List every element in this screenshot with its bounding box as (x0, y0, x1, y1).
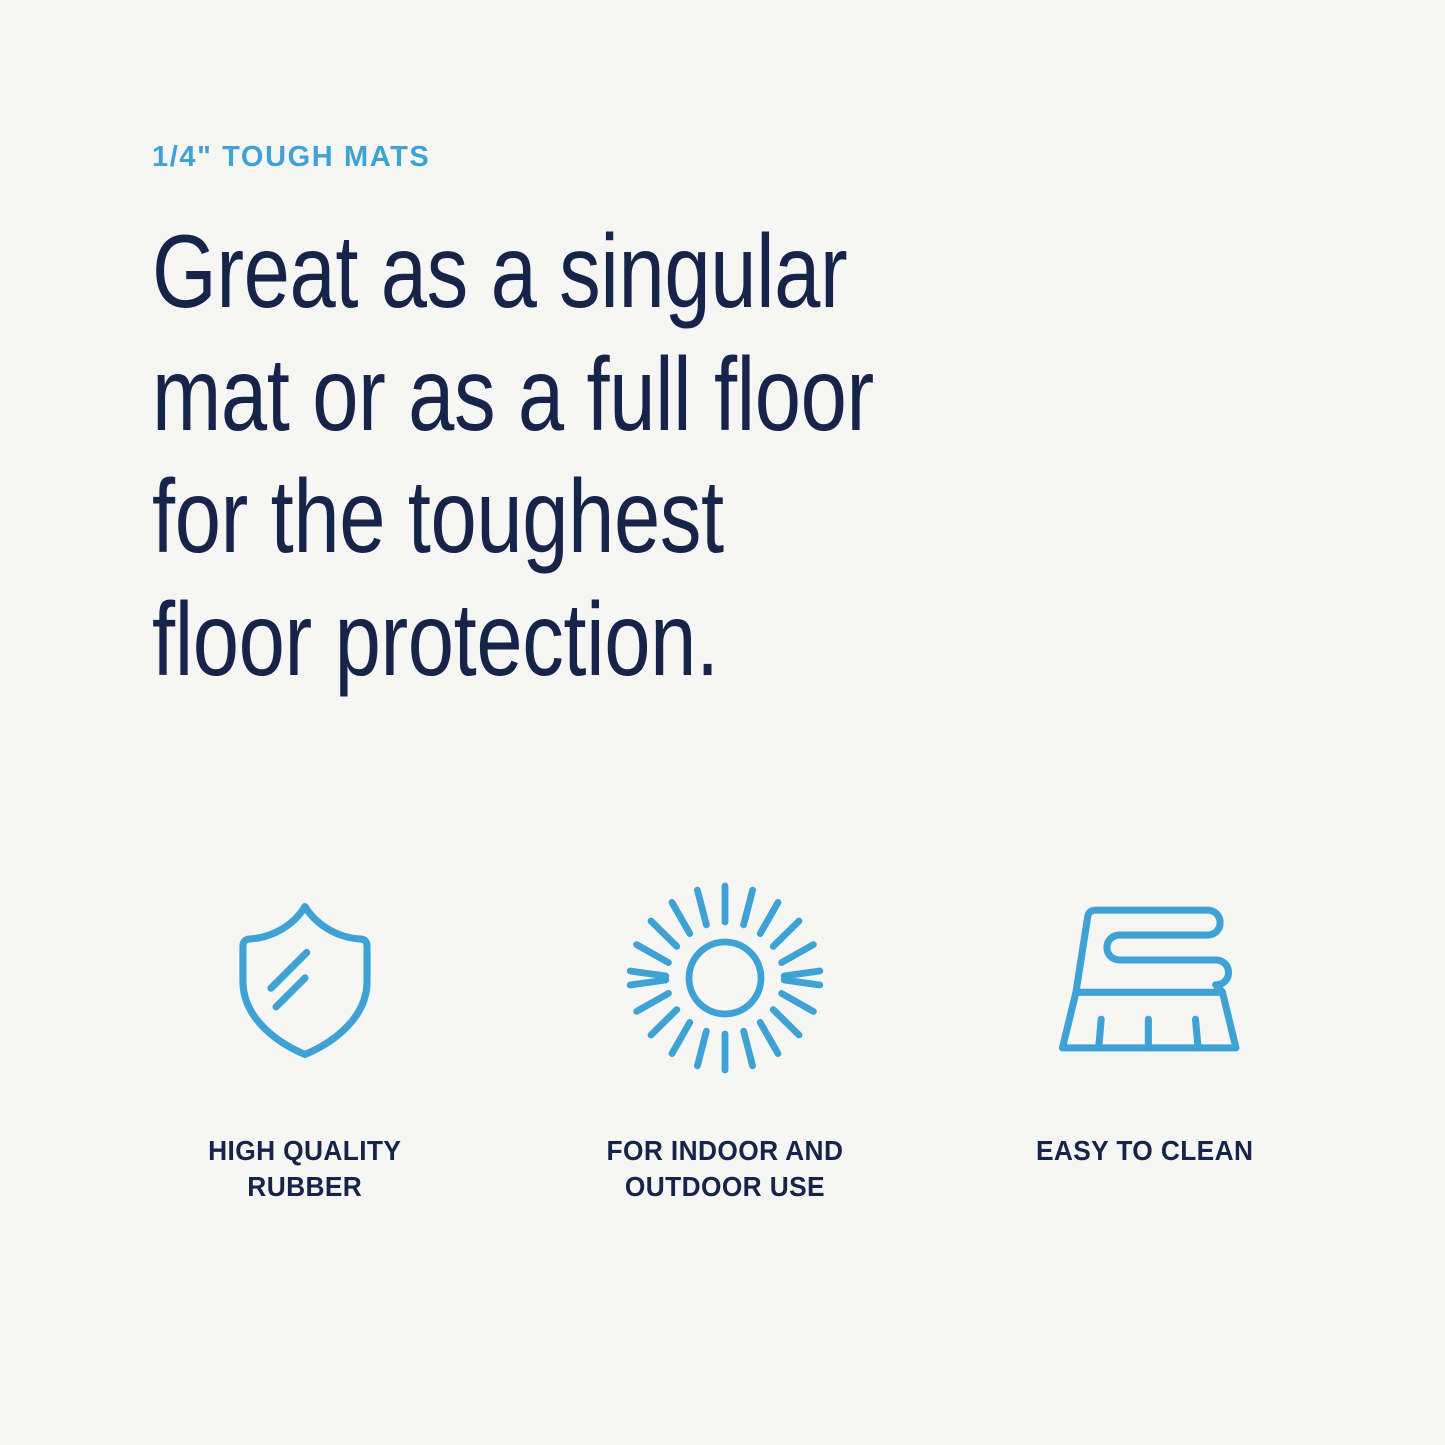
feature-item-indoor-outdoor-use: FOR INDOOR AND OUTDOOR USE (530, 870, 920, 1206)
page-title: Great as a singular mat or as a full flo… (152, 211, 952, 702)
feature-label-line-2: RUBBER (248, 1171, 363, 1202)
sun-icon (625, 870, 825, 1085)
feature-label-high-quality-rubber: HIGH QUALITY RUBBER (208, 1133, 401, 1206)
feature-list: HIGH QUALITY RUBBER (110, 870, 1340, 1206)
scrub-brush-icon (1052, 870, 1238, 1085)
feature-label-line-1: HIGH QUALITY (208, 1135, 401, 1166)
feature-label-line-1: EASY TO CLEAN (1036, 1135, 1253, 1166)
feature-label-line-1: FOR INDOOR AND (607, 1135, 844, 1166)
eyebrow-label: 1/4" TOUGH MATS (152, 140, 1152, 175)
copy-block: 1/4" TOUGH MATS Great as a singular mat … (152, 140, 1152, 702)
shield-icon (220, 870, 390, 1085)
headline-line-4: floor protection. (152, 579, 952, 702)
headline-line-2: mat or as a full floor (152, 334, 952, 457)
feature-label-indoor-outdoor-use: FOR INDOOR AND OUTDOOR USE (607, 1133, 844, 1206)
marketing-feature-panel: 1/4" TOUGH MATS Great as a singular mat … (0, 0, 1445, 1445)
feature-label-line-2: OUTDOOR USE (625, 1171, 825, 1202)
headline-line-1: Great as a singular (152, 211, 952, 334)
headline-line-3: for the toughest (152, 456, 952, 579)
feature-item-easy-to-clean: EASY TO CLEAN (950, 870, 1340, 1169)
feature-label-easy-to-clean: EASY TO CLEAN (1036, 1133, 1253, 1169)
feature-item-high-quality-rubber: HIGH QUALITY RUBBER (110, 870, 500, 1206)
